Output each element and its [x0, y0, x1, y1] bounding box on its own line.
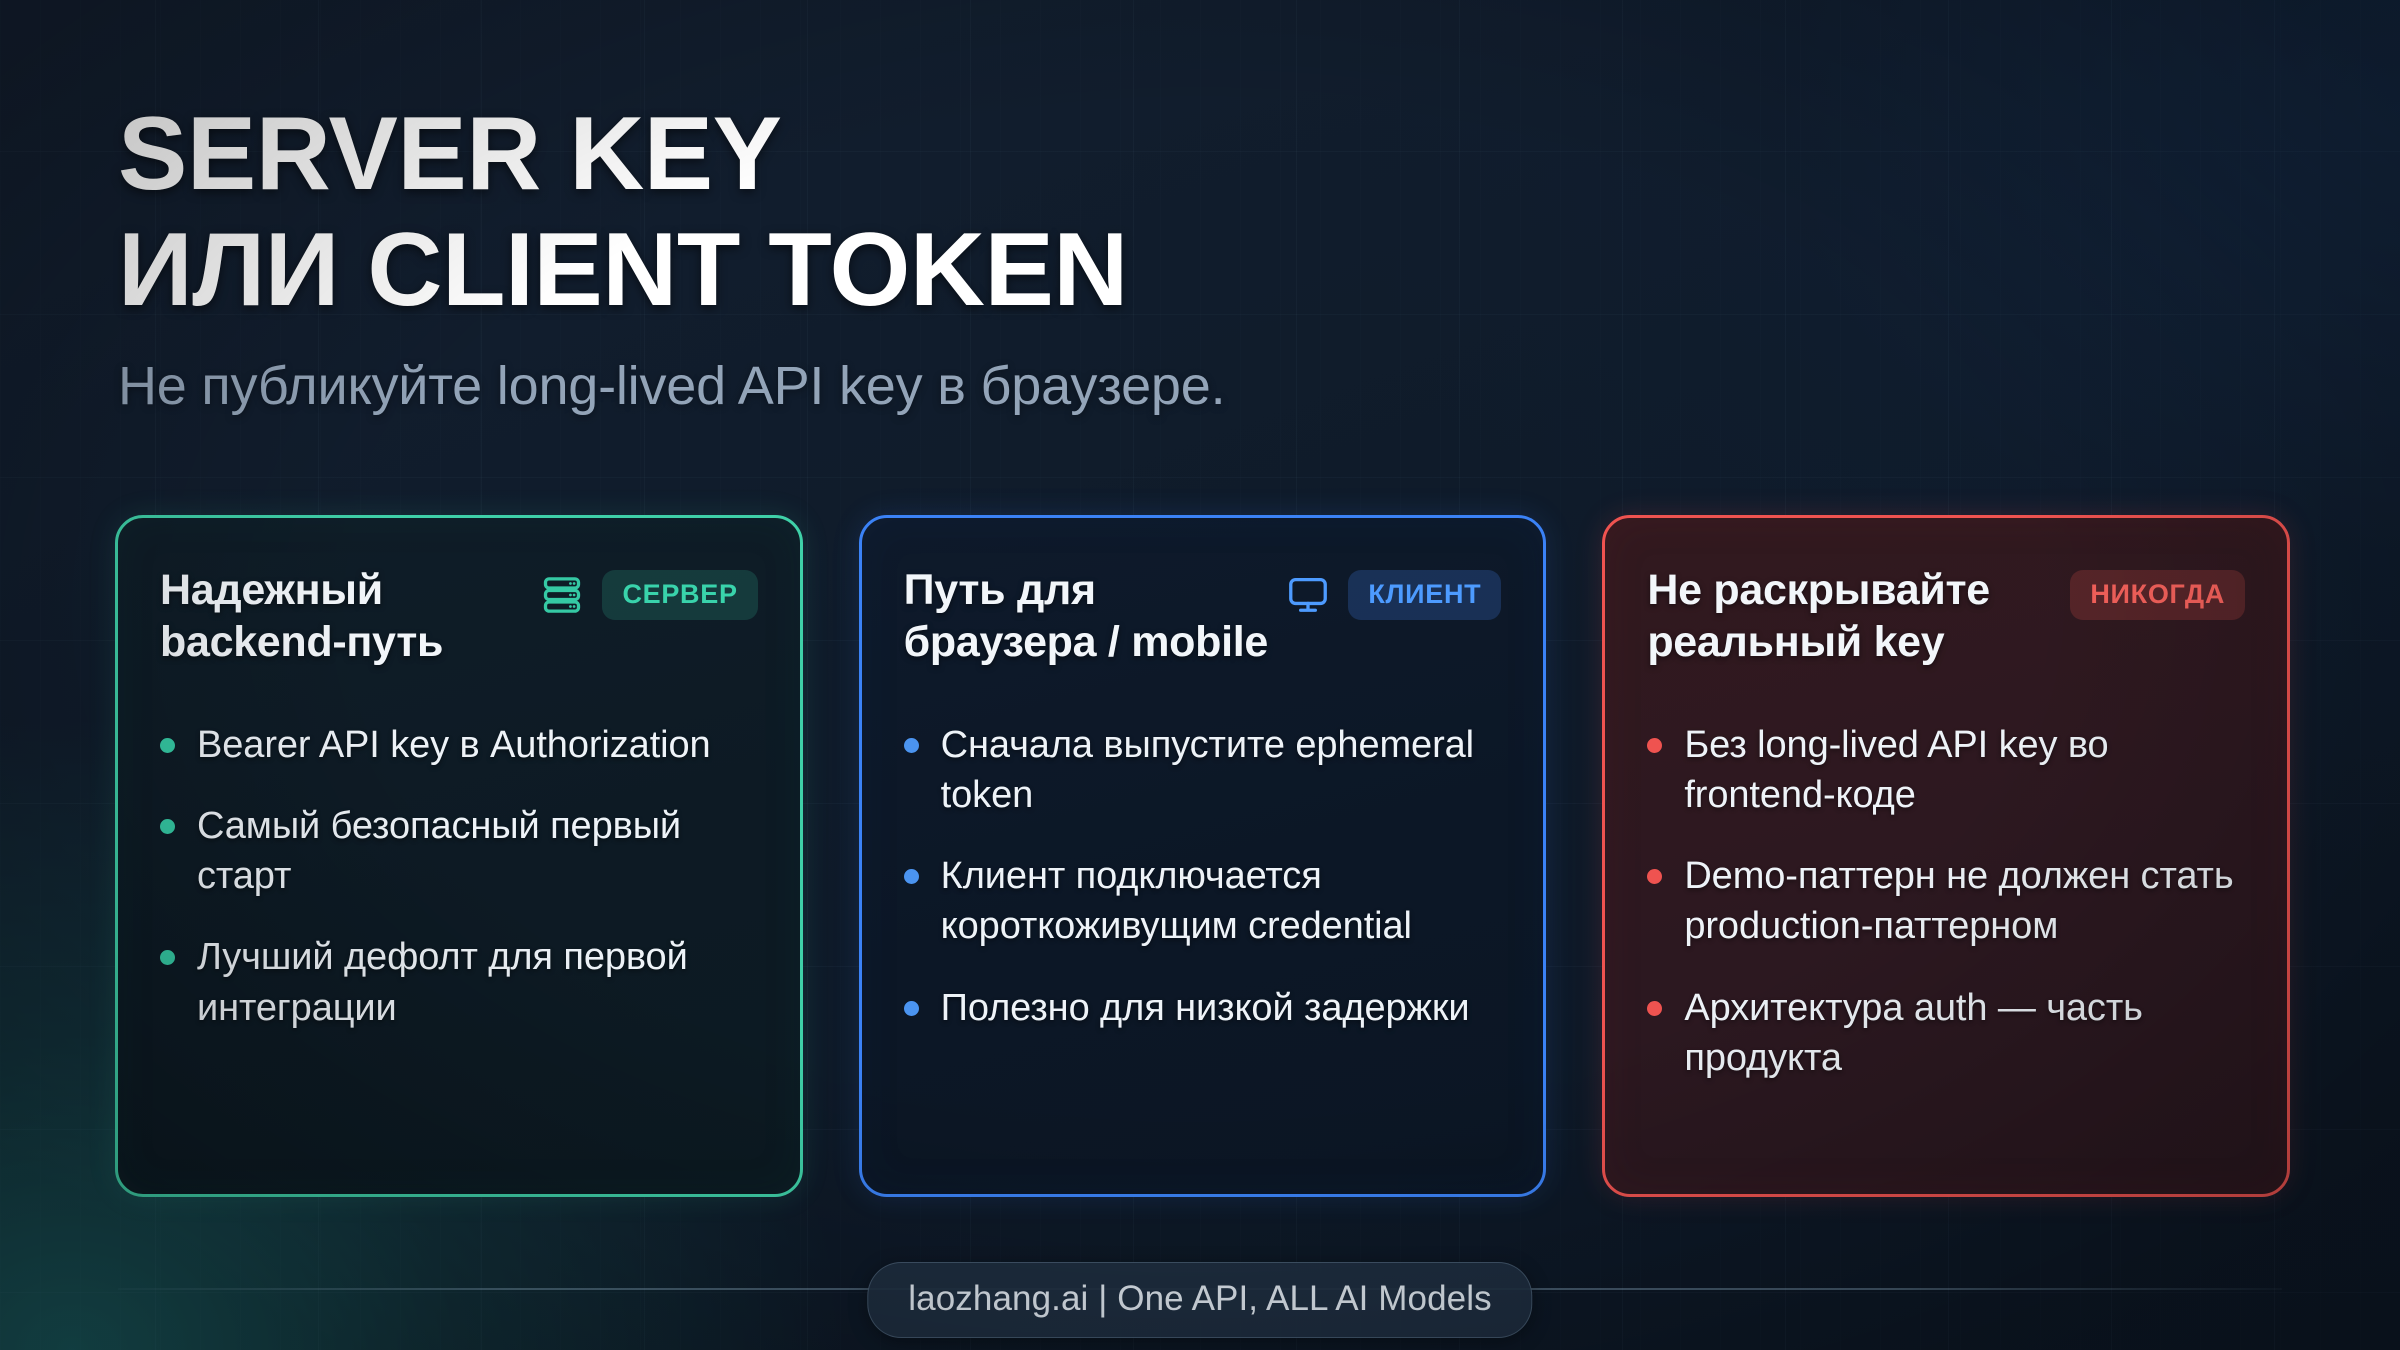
card-header-right: КЛИЕНТ	[1286, 564, 1501, 620]
card-bullet-list: Сначала выпустите ephemeral token Клиент…	[904, 720, 1502, 1033]
list-item: Архитектура auth — часть продукта	[1647, 983, 2245, 1083]
server-rack-icon	[540, 573, 584, 617]
card-never[interactable]: Не раскрывайте реальный key НИКОГДА Без …	[1602, 515, 2290, 1197]
status-badge: КЛИЕНТ	[1348, 570, 1501, 620]
list-item: Полезно для низкой задержки	[904, 983, 1502, 1033]
list-item: Без long-lived API key во frontend-коде	[1647, 720, 2245, 820]
status-badge: СЕРВЕР	[602, 570, 757, 620]
card-header-right: НИКОГДА	[2070, 564, 2245, 620]
card-client[interactable]: Путь для браузера / mobile КЛИЕНТ Сначал…	[859, 515, 1547, 1197]
card-bullet-list: Без long-lived API key во frontend-коде …	[1647, 720, 2245, 1083]
list-item: Лучший дефолт для первой интеграции	[160, 932, 758, 1032]
slide-canvas: SERVER KEY ИЛИ CLIENT TOKEN Не публикуйт…	[0, 0, 2400, 1350]
card-title: Надежный backend-путь	[160, 564, 524, 669]
card-bullet-list: Bearer API key в Authorization Самый без…	[160, 720, 758, 1033]
monitor-icon	[1286, 573, 1330, 617]
card-title: Путь для браузера / mobile	[904, 564, 1271, 669]
card-header: Надежный backend-путь СЕРВЕР	[160, 564, 758, 682]
card-header: Путь для браузера / mobile КЛИЕНТ	[904, 564, 1502, 682]
list-item-label: Demo-паттерн не должен стать production-…	[1684, 851, 2245, 951]
list-item-label: Bearer API key в Authorization	[197, 720, 711, 770]
list-item-label: Клиент подключается короткоживущим crede…	[941, 851, 1502, 951]
bullet-dot-icon	[160, 950, 175, 965]
list-item: Сначала выпустите ephemeral token	[904, 720, 1502, 820]
bullet-dot-icon	[160, 738, 175, 753]
list-item: Клиент подключается короткоживущим crede…	[904, 851, 1502, 951]
card-row: Надежный backend-путь СЕРВЕР	[115, 515, 2290, 1197]
card-title: Не раскрывайте реальный key	[1647, 564, 2054, 669]
page-title-line-2: ИЛИ CLIENT TOKEN	[118, 212, 2018, 328]
bullet-dot-icon	[904, 738, 919, 753]
list-item: Demo-паттерн не должен стать production-…	[1647, 851, 2245, 951]
list-item: Bearer API key в Authorization	[160, 720, 758, 770]
status-badge: НИКОГДА	[2070, 570, 2245, 620]
footer-brand-badge: laozhang.ai | One API, ALL AI Models	[867, 1262, 1532, 1338]
list-item-label: Самый безопасный первый старт	[197, 801, 758, 901]
bullet-dot-icon	[904, 869, 919, 884]
bullet-dot-icon	[1647, 1001, 1662, 1016]
list-item-label: Без long-lived API key во frontend-коде	[1684, 720, 2245, 820]
list-item: Самый безопасный первый старт	[160, 801, 758, 901]
card-header-right: СЕРВЕР	[540, 564, 757, 620]
header: SERVER KEY ИЛИ CLIENT TOKEN Не публикуйт…	[118, 96, 2018, 417]
list-item-label: Полезно для низкой задержки	[941, 983, 1470, 1033]
list-item-label: Сначала выпустите ephemeral token	[941, 720, 1502, 820]
list-item-label: Лучший дефолт для первой интеграции	[197, 932, 758, 1032]
bullet-dot-icon	[160, 819, 175, 834]
card-server[interactable]: Надежный backend-путь СЕРВЕР	[115, 515, 803, 1197]
card-header: Не раскрывайте реальный key НИКОГДА	[1647, 564, 2245, 682]
bullet-dot-icon	[1647, 738, 1662, 753]
list-item-label: Архитектура auth — часть продукта	[1684, 983, 2245, 1083]
bullet-dot-icon	[1647, 869, 1662, 884]
bullet-dot-icon	[904, 1001, 919, 1016]
page-subtitle: Не публикуйте long-lived API key в брауз…	[118, 355, 2018, 417]
page-title-line-1: SERVER KEY	[118, 96, 2018, 212]
